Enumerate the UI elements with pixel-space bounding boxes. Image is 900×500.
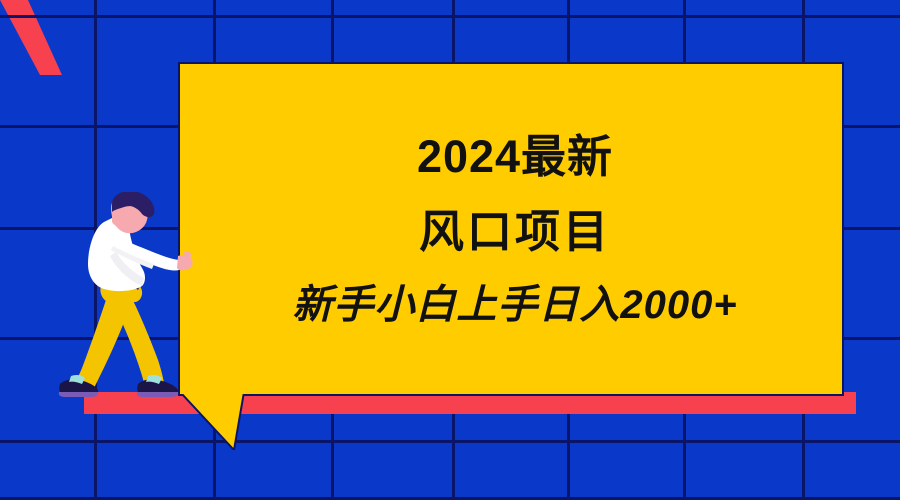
poster-canvas: 2024最新 风口项目 新手小白上手日入2000+ <box>0 0 900 500</box>
person-pushing-bubble-illustration <box>58 192 198 404</box>
grid-line-horizontal <box>0 440 900 443</box>
speech-bubble <box>178 62 844 396</box>
grid-line-horizontal <box>0 15 900 18</box>
